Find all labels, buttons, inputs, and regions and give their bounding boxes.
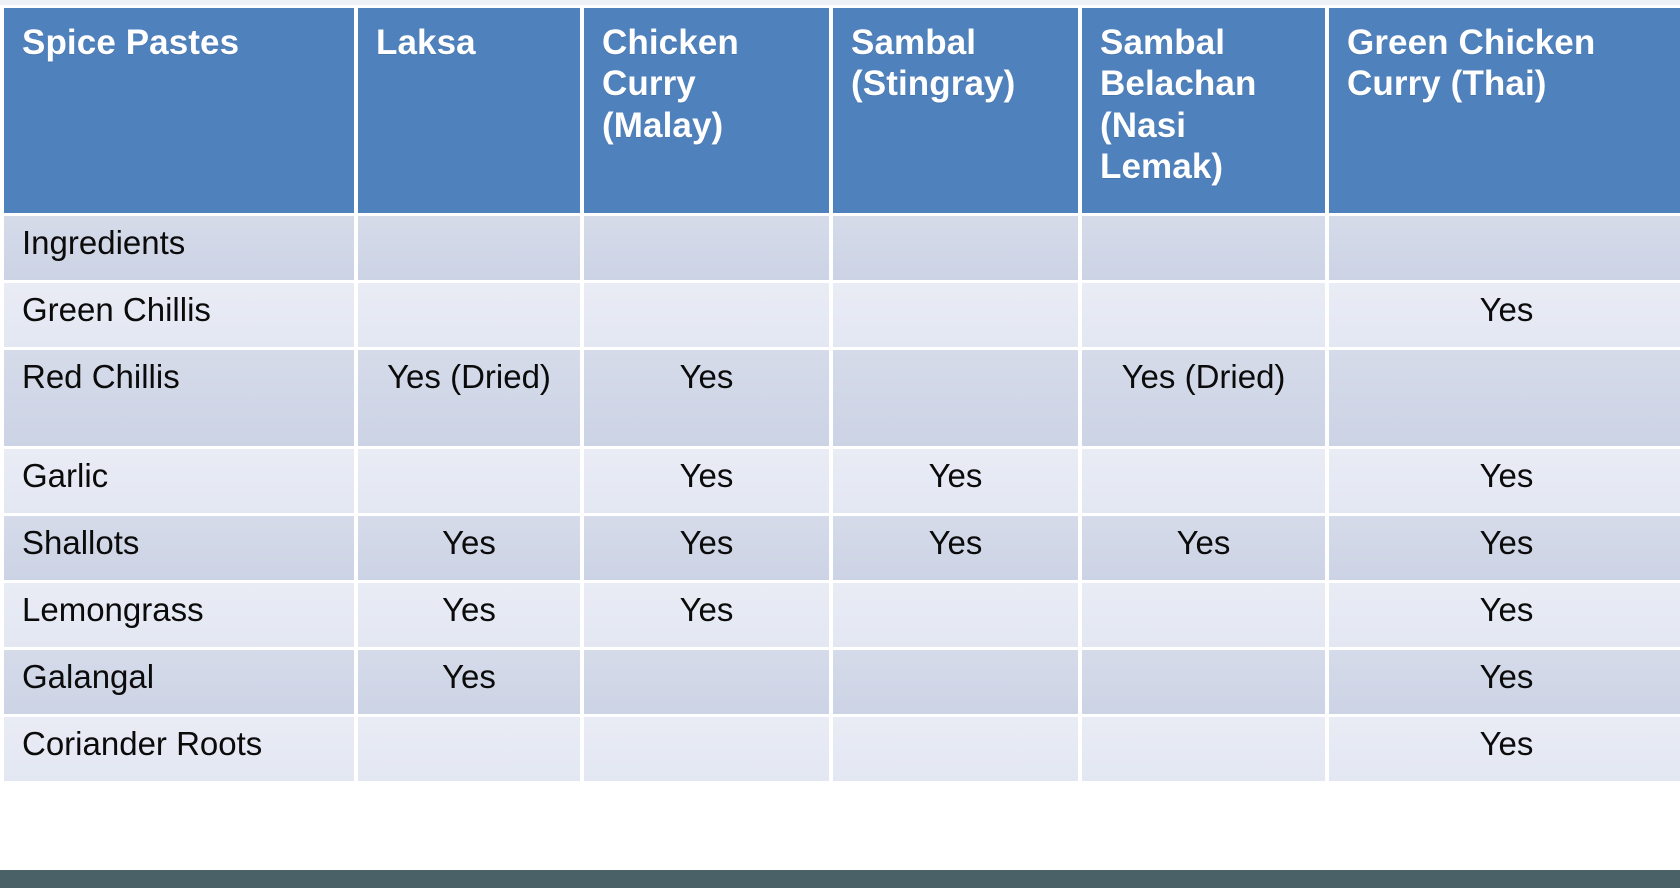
cell-sambal-stingray [833, 583, 1078, 647]
table-header: Spice Pastes Laksa Chicken Curry (Malay)… [4, 8, 1680, 213]
cell-sambal-belachan [1082, 583, 1325, 647]
table-header-row: Spice Pastes Laksa Chicken Curry (Malay)… [4, 8, 1680, 213]
slide-canvas: Spice Pastes Laksa Chicken Curry (Malay)… [0, 0, 1680, 888]
cell-chicken-curry-malay [584, 216, 829, 280]
column-header-sambal-belachan-nasi-lemak: Sambal Belachan (Nasi Lemak) [1082, 8, 1325, 213]
cell-green-chicken-curry-thai: Yes [1329, 583, 1680, 647]
cell-sambal-belachan [1082, 216, 1325, 280]
slide-bottom-bar [0, 870, 1680, 888]
cell-laksa [358, 283, 580, 347]
cell-laksa [358, 717, 580, 781]
cell-sambal-belachan [1082, 283, 1325, 347]
column-header-spice-pastes: Spice Pastes [4, 8, 354, 213]
cell-sambal-belachan: Yes (Dried) [1082, 350, 1325, 446]
row-label: Green Chillis [4, 283, 354, 347]
cell-laksa: Yes [358, 650, 580, 714]
cell-laksa: Yes [358, 516, 580, 580]
table-body: Ingredients Green Chillis Yes Red Chilli… [4, 216, 1680, 781]
cell-laksa [358, 449, 580, 513]
table-row: Coriander Roots Yes [4, 717, 1680, 781]
cell-sambal-belachan: Yes [1082, 516, 1325, 580]
cell-sambal-belachan [1082, 449, 1325, 513]
table-row: Shallots Yes Yes Yes Yes Yes [4, 516, 1680, 580]
column-header-laksa: Laksa [358, 8, 580, 213]
cell-sambal-stingray [833, 283, 1078, 347]
cell-laksa: Yes (Dried) [358, 350, 580, 446]
cell-green-chicken-curry-thai: Yes [1329, 516, 1680, 580]
spice-pastes-table: Spice Pastes Laksa Chicken Curry (Malay)… [0, 5, 1680, 784]
cell-green-chicken-curry-thai [1329, 216, 1680, 280]
cell-chicken-curry-malay [584, 283, 829, 347]
column-header-chicken-curry-malay: Chicken Curry (Malay) [584, 8, 829, 213]
cell-green-chicken-curry-thai: Yes [1329, 717, 1680, 781]
row-label: Garlic [4, 449, 354, 513]
cell-laksa: Yes [358, 583, 580, 647]
cell-chicken-curry-malay: Yes [584, 449, 829, 513]
cell-sambal-belachan [1082, 717, 1325, 781]
table-row: Ingredients [4, 216, 1680, 280]
cell-chicken-curry-malay [584, 650, 829, 714]
column-header-sambal-stingray: Sambal (Stingray) [833, 8, 1078, 213]
cell-chicken-curry-malay: Yes [584, 583, 829, 647]
cell-sambal-stingray [833, 350, 1078, 446]
cell-laksa [358, 216, 580, 280]
row-label: Red Chillis [4, 350, 354, 446]
table-row: Garlic Yes Yes Yes [4, 449, 1680, 513]
cell-chicken-curry-malay: Yes [584, 350, 829, 446]
cell-chicken-curry-malay: Yes [584, 516, 829, 580]
cell-green-chicken-curry-thai [1329, 350, 1680, 446]
table-row: Red Chillis Yes (Dried) Yes Yes (Dried) [4, 350, 1680, 446]
cell-chicken-curry-malay [584, 717, 829, 781]
cell-sambal-stingray [833, 216, 1078, 280]
row-label: Shallots [4, 516, 354, 580]
cell-sambal-belachan [1082, 650, 1325, 714]
column-header-green-chicken-curry-thai: Green Chicken Curry (Thai) [1329, 8, 1680, 213]
row-label: Ingredients [4, 216, 354, 280]
row-label: Lemongrass [4, 583, 354, 647]
cell-green-chicken-curry-thai: Yes [1329, 650, 1680, 714]
table-row: Green Chillis Yes [4, 283, 1680, 347]
row-label: Galangal [4, 650, 354, 714]
row-label: Coriander Roots [4, 717, 354, 781]
cell-green-chicken-curry-thai: Yes [1329, 449, 1680, 513]
cell-sambal-stingray [833, 717, 1078, 781]
table-row: Galangal Yes Yes [4, 650, 1680, 714]
table-row: Lemongrass Yes Yes Yes [4, 583, 1680, 647]
cell-sambal-stingray: Yes [833, 516, 1078, 580]
cell-sambal-stingray [833, 650, 1078, 714]
cell-green-chicken-curry-thai: Yes [1329, 283, 1680, 347]
cell-sambal-stingray: Yes [833, 449, 1078, 513]
